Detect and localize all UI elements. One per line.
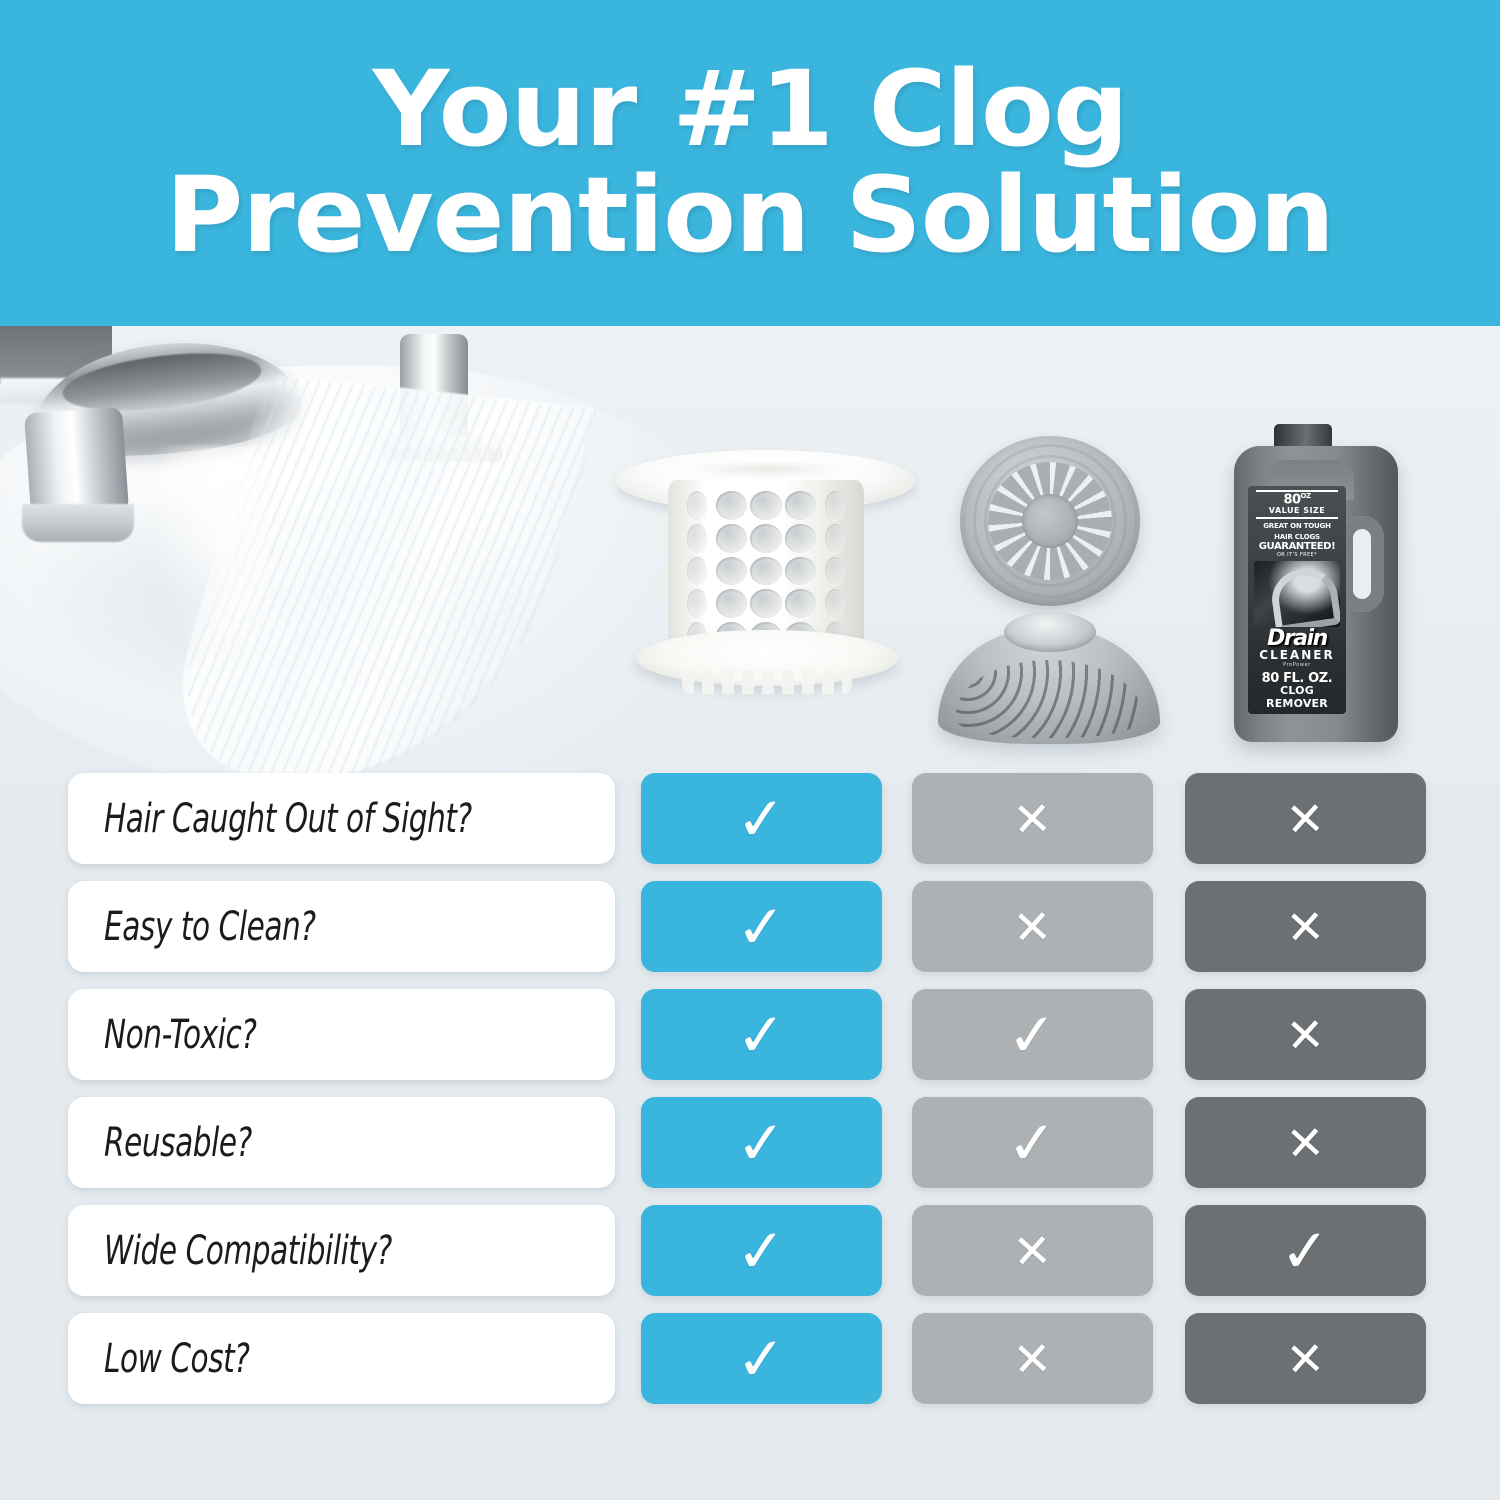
comparison-row: Low Cost?✓✕✕ [0,1313,1500,1404]
feature-label-text: Hair Caught Out of Sight? [104,796,472,842]
cross-icon: ✕ [1012,1335,1053,1383]
comparison-cell-chemical: ✕ [1185,1313,1426,1404]
bottle-brand-name: Drain [1248,629,1346,649]
bottle-brand-small-text: ProPower [1248,662,1346,668]
check-icon: ✓ [734,788,789,849]
bottle-claim-line-1: GREAT ON TOUGH [1248,522,1346,530]
check-icon: ✓ [734,1112,789,1173]
feature-label-pill: Easy to Clean? [68,881,615,972]
bottle-claim-line-2: HAIR CLOGS [1248,533,1346,541]
feature-label-text: Wide Compatibility? [104,1228,392,1274]
drain-protector-teeth [682,670,852,694]
comparison-cell-strainer: ✕ [912,773,1153,864]
feature-label-pill: Hair Caught Out of Sight? [68,773,615,864]
bottle-size-value: 80OZ [1256,493,1338,506]
bottle-brand-subtitle: CLEANER [1248,649,1346,661]
bottle-volume-text: 80 FL. OZ. [1248,672,1346,686]
comparison-row: Hair Caught Out of Sight?✓✕✕ [0,773,1500,864]
bottle-size-badge: 80OZ VALUE SIZE [1256,490,1338,519]
check-icon: ✓ [1005,1112,1060,1173]
comparison-cell-ours: ✓ [641,1205,882,1296]
feature-label-pill: Reusable? [68,1097,615,1188]
check-icon: ✓ [734,1004,789,1065]
product-photo-stage: 80OZ VALUE SIZE GREAT ON TOUGH HAIR CLOG… [0,326,1500,781]
check-icon: ✓ [1005,1004,1060,1065]
bottle-handle [1340,516,1384,612]
comparison-cell-chemical: ✕ [1185,989,1426,1080]
comparison-cell-ours: ✓ [641,881,882,972]
strainer-dome-top [1004,612,1096,652]
comparison-cell-ours: ✓ [641,1313,882,1404]
drain-cleaner-product-image: 80OZ VALUE SIZE GREAT ON TOUGH HAIR CLOG… [1226,424,1406,744]
check-icon: ✓ [734,896,789,957]
bottle-product-type-text: CLOG REMOVER [1248,685,1346,709]
headline-line-1: Your #1 Clog [372,59,1127,161]
comparison-table: Hair Caught Out of Sight?✓✕✕Easy to Clea… [0,773,1500,1421]
drain-protector-product-image [596,434,936,734]
cross-icon: ✕ [1285,795,1326,843]
feature-label-text: Low Cost? [104,1336,250,1382]
bottle-label: 80OZ VALUE SIZE GREAT ON TOUGH HAIR CLOG… [1248,486,1346,714]
comparison-cell-strainer: ✓ [912,1097,1153,1188]
comparison-row: Non-Toxic?✓✓✕ [0,989,1500,1080]
feature-label-pill: Wide Compatibility? [68,1205,615,1296]
feature-label-text: Non-Toxic? [104,1012,257,1058]
feature-label-pill: Non-Toxic? [68,989,615,1080]
feature-label-text: Reusable? [104,1120,252,1166]
cross-icon: ✕ [1012,795,1053,843]
comparison-cell-strainer: ✕ [912,881,1153,972]
bottle-pipe-illustration [1254,561,1340,627]
comparison-cell-chemical: ✕ [1185,1097,1426,1188]
feature-label-text: Easy to Clean? [104,904,316,950]
cross-icon: ✕ [1285,1335,1326,1383]
comparison-cell-strainer: ✓ [912,989,1153,1080]
comparison-cell-ours: ✓ [641,1097,882,1188]
comparison-row: Easy to Clean?✓✕✕ [0,881,1500,972]
cross-icon: ✕ [1285,1011,1326,1059]
comparison-row: Wide Compatibility?✓✕✓ [0,1205,1500,1296]
water-splash [150,446,270,676]
cross-icon: ✕ [1285,903,1326,951]
headline-line-2: Prevention Solution [166,165,1334,267]
cross-icon: ✕ [1012,1227,1053,1275]
feature-label-pill: Low Cost? [68,1313,615,1404]
comparison-cell-ours: ✓ [641,773,882,864]
bottle-value-size-text: VALUE SIZE [1256,506,1338,516]
cross-icon: ✕ [1285,1119,1326,1167]
bottle-guarantee-text: GUARANTEED! [1248,541,1346,552]
strainer-dome-product-image [938,612,1160,744]
comparison-cell-chemical: ✓ [1185,1205,1426,1296]
strainer-disc-product-image [960,436,1140,606]
comparison-cell-strainer: ✕ [912,1313,1153,1404]
comparison-cell-ours: ✓ [641,989,882,1080]
bottle-guarantee-subtext: OR IT'S FREE* [1248,552,1346,558]
header-banner: Your #1 Clog Prevention Solution [0,0,1500,326]
comparison-row: Reusable?✓✓✕ [0,1097,1500,1188]
comparison-cell-strainer: ✕ [912,1205,1153,1296]
check-icon: ✓ [1278,1220,1333,1281]
check-icon: ✓ [734,1328,789,1389]
strainer-disc-hub [1022,494,1078,548]
comparison-cell-chemical: ✕ [1185,881,1426,972]
cross-icon: ✕ [1012,903,1053,951]
check-icon: ✓ [734,1220,789,1281]
comparison-cell-chemical: ✕ [1185,773,1426,864]
faucet-base [22,504,134,542]
